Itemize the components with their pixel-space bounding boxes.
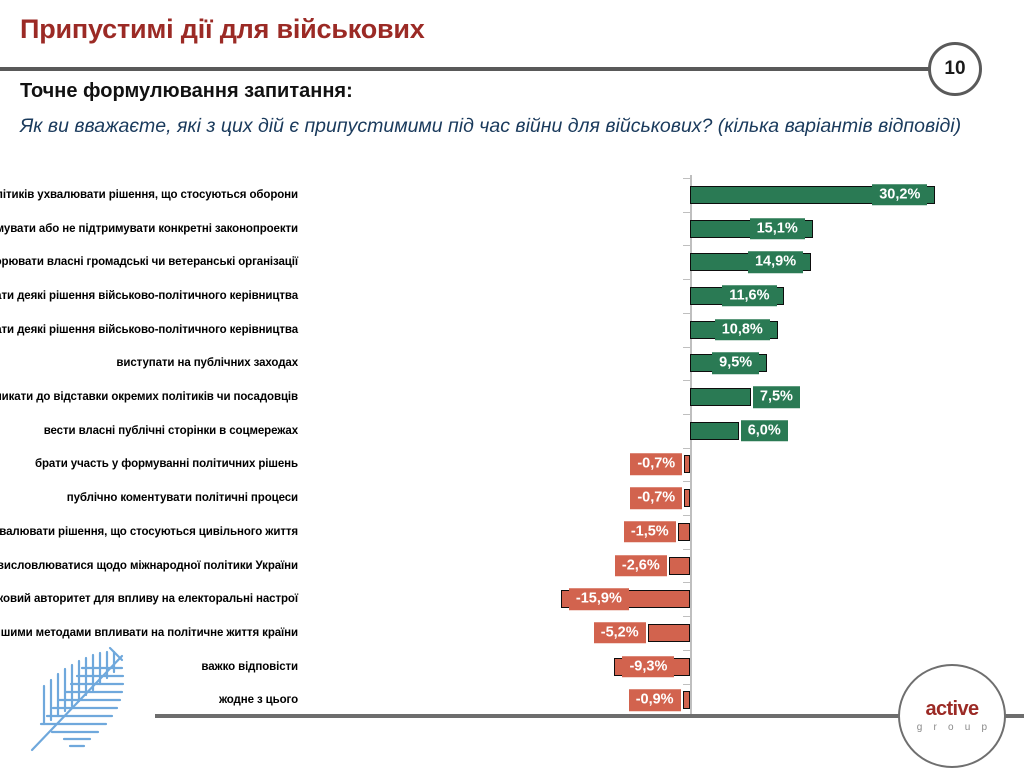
axis-tick xyxy=(683,178,690,179)
bar-negative xyxy=(678,523,690,541)
chart-row: жодне з цього-0,9% xyxy=(0,684,1024,718)
axis-tick xyxy=(683,650,690,651)
category-label: створювати власні громадські чи ветеранс… xyxy=(0,256,298,268)
leaf-logo-icon xyxy=(22,640,142,755)
active-group-logo: active g r o u p xyxy=(898,664,1006,768)
category-label: публічно критикувати деякі рішення війсь… xyxy=(0,324,298,336)
chart-row: публічно критикувати деякі рішення війсь… xyxy=(0,313,1024,347)
question-label: Точне формулювання запитання: xyxy=(20,80,353,103)
bar-value-label: 7,5% xyxy=(753,386,800,408)
header-divider xyxy=(0,67,932,71)
axis-tick xyxy=(683,279,690,280)
axis-tick xyxy=(683,448,690,449)
chart-row: вести власні публічні сторінки в соцмере… xyxy=(0,414,1024,448)
axis-tick xyxy=(683,616,690,617)
category-label: публічно висловлюватися щодо міжнародної… xyxy=(0,560,298,572)
category-label: іншими методами впливати на політичне жи… xyxy=(0,627,298,639)
category-label: публічно коментувати політичні процеси xyxy=(67,492,298,504)
bar-value-label: -0,7% xyxy=(630,487,682,509)
category-label: закликати політиків ухвалювати рішення, … xyxy=(0,526,298,538)
category-label: закликати політиків ухвалювати рішення, … xyxy=(0,189,298,201)
axis-tick xyxy=(683,684,690,685)
page-number-badge: 10 xyxy=(928,42,982,96)
chart-row: закликати політиків ухвалювати рішення, … xyxy=(0,515,1024,549)
category-label: жодне з цього xyxy=(219,694,298,706)
category-label: вести власні публічні сторінки в соцмере… xyxy=(44,425,298,437)
axis-tick xyxy=(683,313,690,314)
bar-negative xyxy=(648,624,690,642)
page-title: Припустимі дії для військових xyxy=(20,14,425,45)
bar-negative xyxy=(684,489,690,507)
chart-row: виступати на публічних заходах9,5% xyxy=(0,347,1024,381)
category-label: використовувати військовий авторитет для… xyxy=(0,593,298,605)
axis-tick xyxy=(683,212,690,213)
slide-root: Припустимі дії для військових 10 Точне ф… xyxy=(0,0,1024,770)
axis-tick xyxy=(683,347,690,348)
bar-value-label: -0,7% xyxy=(630,454,682,476)
category-label: брати участь у формуванні політичних ріш… xyxy=(35,458,298,470)
chart-row: публічно підтримувати або не підтримуват… xyxy=(0,212,1024,246)
category-label: важко відповісти xyxy=(201,661,298,673)
bar-negative xyxy=(669,557,690,575)
brand-secondary-text: g r o u p xyxy=(917,723,992,733)
bar-value-label: -15,9% xyxy=(569,588,629,610)
bar-value-label: -2,6% xyxy=(615,555,667,577)
axis-tick xyxy=(683,582,690,583)
bar-positive xyxy=(690,422,739,440)
axis-tick xyxy=(683,549,690,550)
bar-value-label: 15,1% xyxy=(750,218,805,240)
brand-primary-text: active xyxy=(925,699,978,719)
category-label: публічно підтримувати деякі рішення війс… xyxy=(0,290,298,302)
bar-negative xyxy=(684,455,690,473)
bar-value-label: -9,3% xyxy=(622,656,674,678)
chart-row: закликати до відставки окремих політиків… xyxy=(0,380,1024,414)
chart-row: використовувати військовий авторитет для… xyxy=(0,582,1024,616)
axis-tick xyxy=(683,380,690,381)
axis-tick xyxy=(683,414,690,415)
chart-row: публічно коментувати політичні процеси-0… xyxy=(0,481,1024,515)
axis-tick xyxy=(683,245,690,246)
bar-value-label: 14,9% xyxy=(748,251,803,273)
chart-row: публічно підтримувати деякі рішення війс… xyxy=(0,279,1024,313)
bar-value-label: -1,5% xyxy=(624,521,676,543)
bar-value-label: 30,2% xyxy=(872,184,927,206)
question-text: Як ви вважаєте, які з цих дій є припусти… xyxy=(20,112,1020,141)
category-label: закликати до відставки окремих політиків… xyxy=(0,391,298,403)
bar-negative xyxy=(683,691,690,709)
bar-positive xyxy=(690,388,751,406)
category-label: публічно підтримувати або не підтримуват… xyxy=(0,223,298,235)
footer-divider xyxy=(155,714,1024,718)
axis-tick xyxy=(683,481,690,482)
bar-value-label: -5,2% xyxy=(594,622,646,644)
chart-row: публічно висловлюватися щодо міжнародної… xyxy=(0,549,1024,583)
axis-tick xyxy=(683,515,690,516)
bar-value-label: 6,0% xyxy=(741,420,788,442)
category-label: виступати на публічних заходах xyxy=(116,357,298,369)
bar-value-label: 10,8% xyxy=(715,319,770,341)
chart-row: закликати політиків ухвалювати рішення, … xyxy=(0,178,1024,212)
bar-value-label: 11,6% xyxy=(722,285,776,307)
chart-row: створювати власні громадські чи ветеранс… xyxy=(0,245,1024,279)
bar-value-label: 9,5% xyxy=(712,353,759,375)
chart-row: брати участь у формуванні політичних ріш… xyxy=(0,448,1024,482)
chart-row: іншими методами впливати на політичне жи… xyxy=(0,616,1024,650)
chart-row: важко відповісти-9,3% xyxy=(0,650,1024,684)
bar-chart: закликати політиків ухвалювати рішення, … xyxy=(0,175,1024,720)
bar-value-label: -0,9% xyxy=(629,690,681,712)
